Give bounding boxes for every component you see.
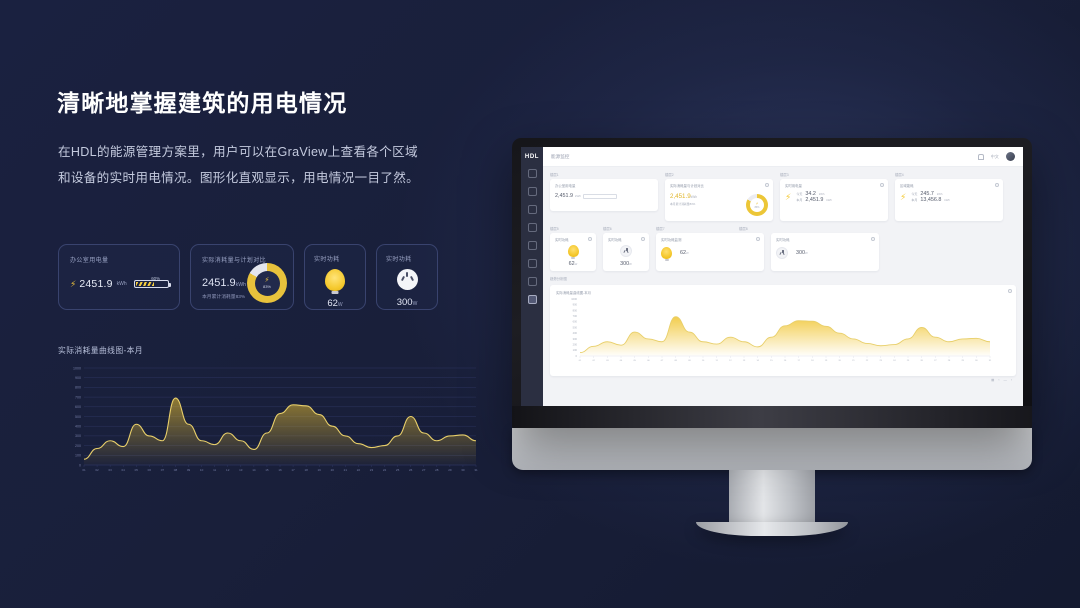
kpi-card-title: 实际消耗量与计划对比 — [202, 255, 293, 264]
svg-text:22: 22 — [866, 360, 869, 362]
dashboard-icon[interactable] — [528, 187, 537, 196]
group-label: 楼层4 — [895, 172, 1003, 177]
card-power-bulb-vertical[interactable]: 实时功耗 62W — [550, 233, 596, 271]
card-unit: kWh — [575, 194, 581, 198]
next-page-icon[interactable]: › — [1011, 378, 1012, 382]
svg-text:26: 26 — [920, 360, 923, 362]
chart-group-label: 趋势分析图 — [550, 276, 1016, 281]
app-body: 楼层1 楼层2 楼层3 楼层4 办公室用电量 2,451.9 kWh — [543, 167, 1023, 406]
stat-value: 2,451.9 — [805, 197, 823, 203]
battery-row: 2,451.9 kWh — [555, 193, 653, 199]
svg-text:01: 01 — [82, 468, 86, 472]
svg-text:200: 200 — [573, 343, 578, 347]
bolt-icon: ⚡ — [70, 280, 76, 289]
svg-text:02: 02 — [592, 360, 595, 362]
chart-card-title: 实际消耗量曲线图-本月 — [556, 290, 1010, 295]
svg-text:29: 29 — [961, 360, 964, 362]
stat-unit: kWh — [826, 198, 832, 202]
group-label: 楼层2 — [665, 172, 773, 177]
svg-text:06: 06 — [647, 360, 650, 362]
stat-key: 今天 — [796, 192, 802, 196]
description-line-1: 在HDL的能源管理方案里，用户可以在GraView上查看各个区域 — [58, 140, 458, 166]
svg-text:14: 14 — [252, 468, 256, 472]
card-title: 实时功耗 — [608, 237, 644, 242]
svg-text:13: 13 — [239, 468, 243, 472]
card-unit: W — [686, 251, 689, 255]
card-title: 实时功耗 — [776, 237, 874, 242]
dashboard-row-1-labels: 楼层1 楼层2 楼层3 楼层4 — [550, 172, 1016, 179]
card-unit: W — [629, 262, 632, 266]
kpi-value: 62 — [327, 298, 338, 309]
svg-text:300: 300 — [573, 337, 578, 341]
kpi-card-realtime-power-bulb[interactable]: 实时功耗 62W — [304, 244, 366, 310]
monitor-neck — [729, 470, 815, 522]
prev-page-icon[interactable]: ‹ — [998, 378, 999, 382]
svg-text:14: 14 — [756, 360, 759, 362]
bolt-icon: ⚡ — [900, 193, 906, 202]
socket-icon — [776, 247, 788, 259]
svg-text:05: 05 — [633, 360, 636, 362]
svg-text:24: 24 — [383, 468, 387, 472]
building-icon[interactable] — [528, 223, 537, 232]
svg-text:03: 03 — [108, 468, 112, 472]
svg-text:10: 10 — [200, 468, 204, 472]
left-content-panel: 清晰地掌握建筑的用电情况 在HDL的能源管理方案里，用户可以在GraView上查… — [0, 0, 500, 608]
grid-view-icon[interactable]: ▦ — [991, 378, 994, 382]
gear-icon[interactable] — [1008, 289, 1012, 293]
svg-text:22: 22 — [357, 468, 361, 472]
page-title: 清晰地掌握建筑的用电情况 — [57, 84, 347, 118]
svg-text:27: 27 — [422, 468, 426, 472]
svg-text:09: 09 — [187, 468, 191, 472]
kpi-unit: W — [338, 302, 343, 308]
svg-text:04: 04 — [620, 360, 623, 362]
battery-gauge: 60% — [134, 280, 169, 288]
socket-icon — [620, 245, 632, 257]
battery-fill — [136, 282, 155, 286]
kpi-card-realtime-power-socket[interactable]: 实时功耗 300W — [376, 244, 438, 310]
card-value: 2,451.9 — [555, 193, 573, 199]
svg-text:13: 13 — [743, 360, 746, 362]
card-value: 300 — [620, 261, 629, 267]
kpi-card-consumption-vs-plan[interactable]: 实际消耗量与计划对比 2451.9kWh 本月累计消耗量83% ⚡ 83% — [190, 244, 294, 310]
topbar-actions: 中文 — [978, 152, 1015, 161]
card-power-socket-horizontal[interactable]: 实时功耗 300W — [771, 233, 879, 271]
card-title: 实时功耗监测 — [661, 237, 759, 242]
svg-text:29: 29 — [448, 468, 452, 472]
svg-text:08: 08 — [674, 360, 677, 362]
group-label: 楼层5 — [550, 226, 596, 231]
card-unit: kWh — [691, 195, 697, 199]
svg-text:01: 01 — [579, 360, 582, 362]
card-title: 区域能耗 — [900, 183, 998, 188]
svg-text:15: 15 — [770, 360, 773, 362]
svg-text:500: 500 — [573, 325, 578, 329]
bolt-icon: ⚡ — [265, 277, 270, 284]
svg-text:17: 17 — [797, 360, 800, 362]
stat-unit: kWh — [944, 198, 950, 202]
svg-text:100: 100 — [573, 348, 578, 352]
card-value-wrap: 300W — [796, 250, 808, 256]
dashboard-row-2-labels: 楼层5 楼层6 楼层7 楼层8 — [550, 226, 1016, 233]
desktop-monitor-mockup: HDL 能源监控 中文 — [512, 138, 1032, 536]
socket-icon — [397, 269, 418, 290]
kpi-value-wrap: 62W — [305, 298, 365, 309]
gear-icon[interactable] — [765, 183, 769, 187]
svg-text:700: 700 — [75, 395, 81, 399]
stat-key: 今天 — [911, 192, 917, 196]
stat-unit: kWh — [819, 192, 825, 196]
stat-unit: kWh — [937, 192, 943, 196]
svg-text:16: 16 — [278, 468, 282, 472]
menu-icon[interactable] — [528, 169, 537, 178]
svg-text:07: 07 — [161, 468, 165, 472]
svg-text:06: 06 — [148, 468, 152, 472]
svg-text:05: 05 — [135, 468, 139, 472]
svg-text:30: 30 — [461, 468, 465, 472]
consumption-area-chart: 1000900800700600500400300200100001020304… — [58, 364, 480, 479]
svg-text:18: 18 — [304, 468, 308, 472]
dashboard-row-2: 实时功耗 62W 实时功耗 — [550, 233, 1016, 271]
svg-text:500: 500 — [75, 415, 81, 419]
donut-percent-label: 83% — [263, 284, 271, 289]
svg-text:07: 07 — [661, 360, 664, 362]
svg-text:28: 28 — [435, 468, 439, 472]
svg-text:30: 30 — [975, 360, 978, 362]
group-label: 楼层1 — [550, 172, 658, 177]
kpi-value: 2451.9 — [79, 278, 112, 290]
stat-row: 本月 2,451.9 kWh — [796, 197, 832, 203]
card-title: 实际消耗量与计划对比 — [670, 183, 768, 188]
group-label: 楼层8 — [739, 226, 815, 231]
chart-title: 实际消耗量曲线图-本月 — [58, 345, 143, 356]
chart-icon[interactable] — [528, 277, 537, 286]
kpi-value: 2451.9 — [202, 277, 236, 289]
bulb-icon — [661, 247, 672, 259]
app-topbar: 能源监控 中文 — [543, 147, 1023, 167]
card-power-bulb-horizontal[interactable]: 实时功耗监测 62W — [656, 233, 764, 271]
language-switch[interactable]: 中文 — [991, 154, 999, 160]
svg-text:21: 21 — [344, 468, 348, 472]
svg-text:26: 26 — [409, 468, 413, 472]
kpi-unit: kWh — [117, 281, 127, 287]
stat-row: 本月 13,456.8 kWh — [911, 197, 950, 203]
svg-text:800: 800 — [75, 386, 81, 390]
group-label: 楼层7 — [656, 226, 732, 231]
stat-value: 13,456.8 — [920, 197, 941, 203]
svg-text:400: 400 — [573, 331, 578, 335]
kpi-card-title: 实时功耗 — [377, 254, 437, 263]
svg-text:12: 12 — [226, 468, 230, 472]
gear-icon[interactable] — [880, 183, 884, 187]
svg-text:25: 25 — [907, 360, 910, 362]
svg-text:15: 15 — [265, 468, 269, 472]
svg-text:1000: 1000 — [571, 297, 577, 301]
settings-icon[interactable] — [528, 295, 537, 304]
app-main: 能源监控 中文 楼层1 楼层2 楼层3 楼层4 — [543, 147, 1023, 406]
group-label: 楼层3 — [780, 172, 888, 177]
bolt-icon: ⚡ — [785, 193, 791, 202]
report-icon[interactable] — [528, 259, 537, 268]
svg-text:08: 08 — [174, 468, 178, 472]
svg-text:600: 600 — [75, 405, 81, 409]
svg-text:18: 18 — [811, 360, 814, 362]
bulb-icon — [568, 245, 579, 257]
kpi-value-wrap: 300W — [377, 297, 437, 308]
donut-chart: ⚡ 83% — [247, 263, 287, 303]
donut-percent-label: 83% — [755, 206, 760, 209]
card-value-wrap: 62W — [680, 250, 689, 256]
svg-text:0: 0 — [576, 354, 578, 358]
kpi-unit: kWh — [236, 282, 246, 288]
donut-center: ⚡ 83% — [750, 198, 764, 212]
svg-text:17: 17 — [291, 468, 295, 472]
svg-text:100: 100 — [75, 454, 81, 458]
monitor-chin — [512, 428, 1032, 470]
svg-text:31: 31 — [989, 360, 992, 362]
card-value: 2,451.9 — [670, 193, 691, 200]
svg-text:200: 200 — [75, 444, 81, 448]
page-dash-icon: — — [1003, 378, 1006, 382]
donut-center: ⚡ 83% — [255, 271, 280, 296]
kpi-card-office-usage[interactable]: 办公室用电量 ⚡ 2451.9 kWh 60% — [58, 244, 180, 310]
svg-text:02: 02 — [95, 468, 99, 472]
kpi-card-title: 实时功耗 — [305, 254, 365, 263]
monitor-foot — [696, 522, 848, 536]
monitor-screen: HDL 能源监控 中文 — [521, 147, 1023, 406]
card-title: 实时功耗 — [555, 237, 591, 242]
svg-text:900: 900 — [75, 376, 81, 380]
hdl-logo: HDL — [525, 154, 539, 160]
group-label: 楼层6 — [603, 226, 649, 231]
donut-chart: ⚡ 83% — [746, 194, 768, 216]
card-unit: W — [805, 251, 808, 255]
monitor-bezel: HDL 能源监控 中文 — [512, 138, 1032, 428]
card-value-wrap: 62W — [555, 261, 591, 267]
card-zone-energy[interactable]: 区域能耗 ⚡ 今天 245.7 kWh — [895, 179, 1003, 221]
monitor-area-chart: 1000900800700600500400300200100001020304… — [556, 296, 996, 366]
gear-icon[interactable] — [756, 237, 760, 241]
svg-text:11: 11 — [716, 360, 719, 362]
svg-text:23: 23 — [370, 468, 374, 472]
kpi-card-strip: 办公室用电量 ⚡ 2451.9 kWh 60% 实际消耗量与计划对比 2451.… — [58, 244, 438, 310]
battery-gauge — [583, 194, 617, 199]
clock-icon[interactable] — [528, 205, 537, 214]
page-description: 在HDL的能源管理方案里，用户可以在GraView上查看各个区域 和设备的实时用… — [58, 140, 458, 192]
card-title: 实时用电量 — [785, 183, 883, 188]
card-realtime-usage[interactable]: 实时用电量 ⚡ 今天 34.2 kWh — [780, 179, 888, 221]
card-power-socket-vertical[interactable]: 实时功耗 300W — [603, 233, 649, 271]
bulb-icon — [325, 269, 345, 291]
svg-text:300: 300 — [75, 434, 81, 438]
svg-text:31: 31 — [474, 468, 478, 472]
kpi-unit: W — [413, 301, 418, 307]
svg-text:25: 25 — [396, 468, 400, 472]
svg-text:400: 400 — [75, 424, 81, 428]
svg-text:09: 09 — [688, 360, 691, 362]
card-office-usage[interactable]: 办公室用电量 2,451.9 kWh — [550, 179, 658, 211]
avatar[interactable] — [1006, 152, 1015, 161]
svg-text:24: 24 — [893, 360, 896, 362]
stat-key: 本月 — [911, 198, 917, 202]
chart-footer-controls: ▦ ‹ — › — [550, 378, 1016, 382]
device-icon[interactable] — [528, 241, 537, 250]
gear-icon[interactable] — [641, 237, 645, 241]
svg-text:600: 600 — [573, 320, 578, 324]
card-value: 300 — [796, 250, 805, 256]
stat-key: 本月 — [796, 198, 802, 202]
svg-text:20: 20 — [331, 468, 335, 472]
card-unit: W — [575, 262, 578, 266]
kpi-card-title: 办公室用电量 — [70, 255, 169, 264]
monitor-chart-card[interactable]: 实际消耗量曲线图-本月 1000900800700600500400300200… — [550, 285, 1016, 376]
gear-icon[interactable] — [588, 237, 592, 241]
svg-text:21: 21 — [852, 360, 855, 362]
svg-text:19: 19 — [318, 468, 322, 472]
bell-icon[interactable] — [978, 154, 984, 160]
gear-icon[interactable] — [995, 183, 999, 187]
svg-text:28: 28 — [948, 360, 951, 362]
svg-text:16: 16 — [784, 360, 787, 362]
dashboard-row-1: 办公室用电量 2,451.9 kWh 实际消耗量与计划对比 2,45 — [550, 179, 1016, 221]
battery-percent-label: 60% — [151, 276, 160, 281]
svg-text:1000: 1000 — [73, 366, 81, 370]
svg-text:800: 800 — [573, 308, 578, 312]
svg-text:23: 23 — [879, 360, 882, 362]
card-title: 办公室用电量 — [555, 183, 653, 188]
svg-text:11: 11 — [213, 468, 216, 472]
gear-icon[interactable] — [871, 237, 875, 241]
svg-text:04: 04 — [122, 468, 126, 472]
card-consumption-vs-plan[interactable]: 实际消耗量与计划对比 2,451.9kWh 本月累计消耗量83% ⚡ 83% — [665, 179, 773, 221]
svg-text:03: 03 — [606, 360, 609, 362]
svg-text:10: 10 — [702, 360, 705, 362]
svg-text:20: 20 — [838, 360, 841, 362]
svg-text:0: 0 — [79, 463, 81, 467]
breadcrumb[interactable]: 能源监控 — [551, 154, 569, 160]
svg-text:900: 900 — [573, 303, 578, 307]
svg-text:12: 12 — [729, 360, 732, 362]
app-sidebar[interactable]: HDL — [521, 147, 543, 406]
card-value-wrap: 300W — [608, 261, 644, 267]
svg-text:19: 19 — [825, 360, 828, 362]
svg-text:27: 27 — [934, 360, 937, 362]
description-line-2: 和设备的实时用电情况。图形化直观显示，用电情况一目了然。 — [58, 166, 458, 192]
kpi-value: 300 — [397, 297, 413, 308]
svg-text:700: 700 — [573, 314, 578, 318]
